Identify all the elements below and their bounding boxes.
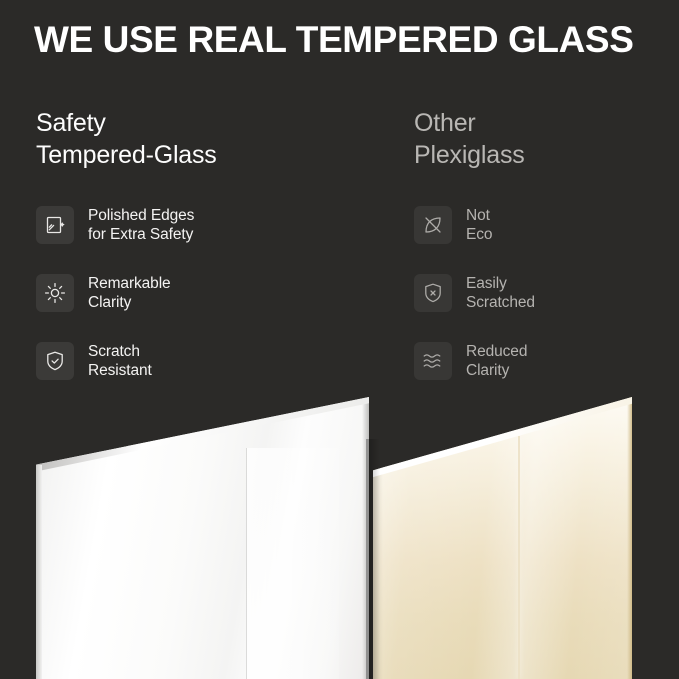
- product-panel-comparison: [0, 389, 679, 679]
- column-title-plexiglass: Other Plexiglass: [414, 108, 664, 171]
- feature-not-eco: Not Eco: [414, 205, 664, 245]
- feature-reduced-clarity: Reduced Clarity: [414, 341, 664, 381]
- tempered-glass-highlight: [246, 448, 339, 679]
- wavy-lines-icon: [414, 342, 452, 380]
- shield-check-icon: [36, 342, 74, 380]
- tempered-glass-panel-surface: [36, 397, 369, 679]
- feature-label: Reduced Clarity: [466, 342, 527, 381]
- feature-label: Polished Edges for Extra Safety: [88, 206, 194, 245]
- feature-label: Not Eco: [466, 206, 492, 245]
- column-title-tempered-glass: Safety Tempered-Glass: [36, 108, 366, 171]
- feature-remarkable-clarity: Remarkable Clarity: [36, 273, 366, 313]
- feature-easily-scratched: Easily Scratched: [414, 273, 664, 313]
- column-tempered-glass: Safety Tempered-Glass Polished Edges for…: [36, 108, 366, 409]
- polished-edges-icon: [36, 206, 74, 244]
- column-plexiglass: Other Plexiglass Not Eco Easily Scratche…: [414, 108, 664, 409]
- feature-scratch-resistant: Scratch Resistant: [36, 341, 366, 381]
- shield-x-icon: [414, 274, 452, 312]
- brightness-sun-icon: [36, 274, 74, 312]
- panel-drop-shadow: [366, 439, 380, 679]
- page-title: WE USE REAL TEMPERED GLASS: [34, 20, 654, 61]
- leaf-crossed-out-icon: [414, 206, 452, 244]
- tempered-glass-left-bevel: [36, 465, 42, 679]
- feature-label: Scratch Resistant: [88, 342, 152, 381]
- feature-label: Easily Scratched: [466, 274, 535, 313]
- plexiglass-right-bevel: [627, 397, 632, 679]
- tempered-glass-seam: [246, 448, 248, 679]
- feature-polished-edges: Polished Edges for Extra Safety: [36, 205, 366, 245]
- feature-label: Remarkable Clarity: [88, 274, 171, 313]
- plexiglass-seam: [518, 436, 520, 679]
- promo-graphic: WE USE REAL TEMPERED GLASS Safety Temper…: [0, 0, 679, 679]
